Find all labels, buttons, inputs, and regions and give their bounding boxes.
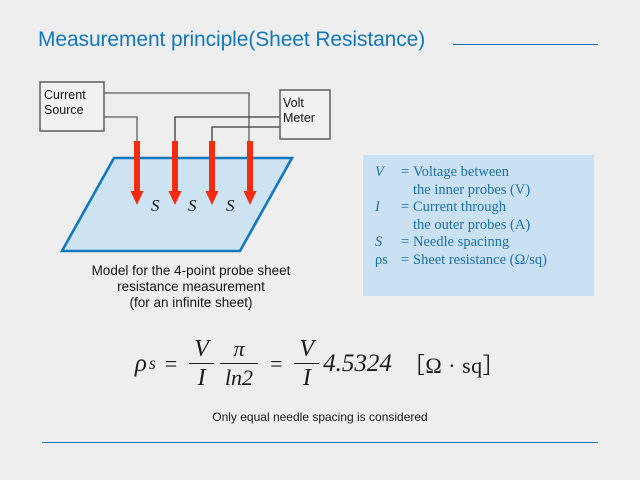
formula-rho-subscript: s <box>149 353 156 374</box>
legend-symbol-rho-s: ρs <box>375 252 401 270</box>
diagram-caption-line3: (for an infinite sheet) <box>36 295 346 311</box>
wire-volt-meter-inner-left <box>175 117 280 144</box>
legend-symbol-I: I <box>375 199 401 217</box>
legend-desc-5: Sheet resistance (Ω/sq) <box>413 252 547 270</box>
sheet-resistance-formula: ρs = V I π ln2 = V I 4.5324 ［Ω · sq］ <box>0 336 640 391</box>
legend-equals-3 <box>401 217 413 235</box>
spacing-label-3: S <box>226 196 235 216</box>
slide-canvas: Measurement principle(Sheet Resistance) <box>0 0 640 480</box>
legend-desc-2: Current through <box>413 199 547 217</box>
formula-f3-denominator: I <box>298 364 316 391</box>
bottom-rule-divider <box>42 442 598 443</box>
current-source-label-line2: Source <box>44 103 86 118</box>
wire-volt-meter-inner-right <box>212 127 280 144</box>
formula-f3-numerator: V <box>294 336 319 363</box>
legend-symbol-blank-1 <box>375 182 401 200</box>
formula-f1-denominator: I <box>193 364 211 391</box>
formula-fraction-v-over-i-2: V I <box>294 336 319 391</box>
diagram-caption: Model for the 4-point probe sheet resist… <box>36 263 346 311</box>
formula-units: ［Ω · sq］ <box>403 348 505 380</box>
legend-equals-1 <box>401 182 413 200</box>
diagram-caption-line1: Model for the 4-point probe sheet <box>36 263 346 279</box>
legend-row-spacing: S = Needle spacinng <box>375 234 547 252</box>
volt-meter-label: Volt Meter <box>283 96 315 125</box>
volt-meter-label-line2: Meter <box>283 111 315 126</box>
symbol-legend-panel: V = Voltage between the inner probes (V)… <box>363 155 594 296</box>
volt-meter-label-line1: Volt <box>283 96 315 111</box>
formula-expression: ρs = V I π ln2 = V I 4.5324 ［Ω · sq］ <box>135 336 505 391</box>
spacing-label-2: S <box>188 196 197 216</box>
spacing-label-1: S <box>151 196 160 216</box>
legend-desc-0: Voltage between <box>413 164 547 182</box>
formula-equals-2: = <box>270 351 282 377</box>
legend-row-current-cont: the outer probes (A) <box>375 217 547 235</box>
legend-desc-1: the inner probes (V) <box>413 182 547 200</box>
wire-current-source-outer-left <box>104 117 137 144</box>
legend-symbol-blank-3 <box>375 217 401 235</box>
legend-desc-3: the outer probes (A) <box>413 217 547 235</box>
current-source-label-line1: Current <box>44 88 86 103</box>
legend-row-current: I = Current through <box>375 199 547 217</box>
legend-row-voltage-cont: the inner probes (V) <box>375 182 547 200</box>
formula-constant: 4.5324 <box>323 350 392 378</box>
legend-equals-2: = <box>401 199 413 217</box>
wire-current-source-outer-right <box>104 93 249 144</box>
formula-fraction-pi-over-ln2: π ln2 <box>220 336 258 391</box>
legend-symbol-S: S <box>375 234 401 252</box>
formula-f2-numerator: π <box>228 336 249 363</box>
symbol-legend-table: V = Voltage between the inner probes (V)… <box>375 164 547 269</box>
legend-symbol-V: V <box>375 164 401 182</box>
diagram-caption-line2: resistance measurement <box>36 279 346 295</box>
legend-desc-4: Needle spacinng <box>413 234 547 252</box>
current-source-label: Current Source <box>44 88 86 117</box>
legend-equals-0: = <box>401 164 413 182</box>
legend-equals-5: = <box>401 252 413 270</box>
formula-equals-1: = <box>165 351 177 377</box>
formula-f1-numerator: V <box>189 336 214 363</box>
legend-equals-4: = <box>401 234 413 252</box>
formula-f2-denominator: ln2 <box>220 364 258 391</box>
formula-rho: ρ <box>135 350 147 378</box>
formula-footnote: Only equal needle spacing is considered <box>0 410 640 424</box>
legend-row-voltage: V = Voltage between <box>375 164 547 182</box>
formula-fraction-v-over-i-1: V I <box>189 336 214 391</box>
legend-row-sheet-resistance: ρs = Sheet resistance (Ω/sq) <box>375 252 547 270</box>
